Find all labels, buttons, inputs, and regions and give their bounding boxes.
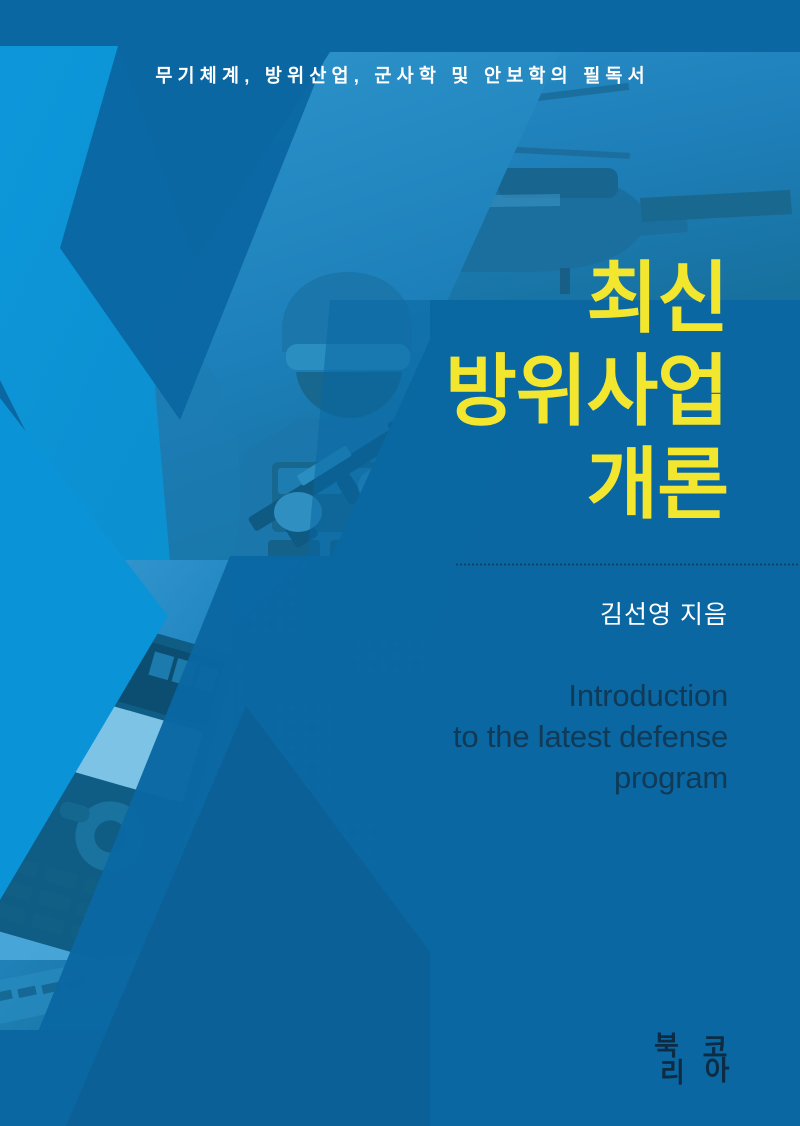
dotted-divider bbox=[455, 563, 800, 566]
title-line-2: 방위사업 bbox=[208, 345, 728, 438]
cover-title: 최신 방위사업 개론 bbox=[208, 252, 728, 531]
publisher-logo: 북 코 리 아 bbox=[652, 1031, 728, 1093]
publisher-glyph-4: 아 bbox=[690, 1056, 728, 1087]
cover-author: 김선영 지음 bbox=[208, 595, 728, 631]
publisher-logo-grid: 북 코 리 아 bbox=[652, 1031, 728, 1093]
title-line-3: 개론 bbox=[208, 438, 728, 531]
subtitle-line-3: program bbox=[208, 757, 728, 798]
subtitle-line-2: to the latest defense bbox=[208, 716, 728, 757]
cover-text-layer: 무기체계, 방위산업, 군사학 및 안보학의 필독서 최신 방위사업 개론 김선… bbox=[0, 0, 800, 1126]
cover-subtitle-english: Introduction to the latest defense progr… bbox=[208, 675, 728, 798]
subtitle-line-1: Introduction bbox=[208, 675, 728, 716]
cover-tagline: 무기체계, 방위산업, 군사학 및 안보학의 필독서 bbox=[0, 62, 800, 88]
title-line-1: 최신 bbox=[208, 252, 728, 345]
book-cover: CALC bbox=[0, 0, 800, 1126]
